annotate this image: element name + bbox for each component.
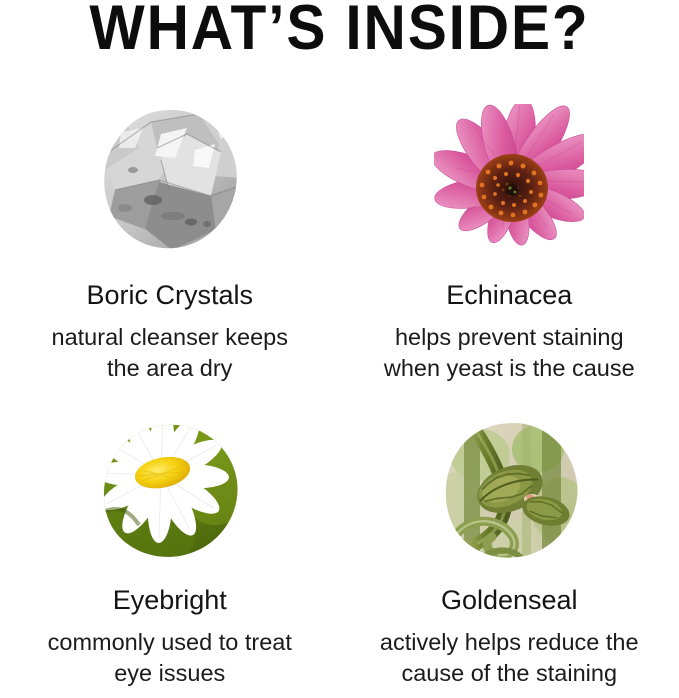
ingredient-name: Eyebright bbox=[113, 585, 227, 615]
ingredient-grid: Boric Crystals natural cleanser keeps th… bbox=[0, 88, 679, 698]
ingredient-name: Boric Crystals bbox=[86, 280, 253, 310]
ingredient-name: Echinacea bbox=[446, 280, 572, 310]
ingredient-card-boric-crystals: Boric Crystals natural cleanser keeps th… bbox=[0, 88, 340, 393]
ingredient-description: helps prevent staining when yeast is the… bbox=[384, 322, 635, 383]
ingredient-description: natural cleanser keeps the area dry bbox=[52, 322, 288, 383]
ingredient-card-eyebright: Eyebright commonly used to treat eye iss… bbox=[0, 393, 340, 698]
ingredient-card-echinacea: Echinacea helps prevent staining when ye… bbox=[340, 88, 679, 393]
eyebright-daisy-image bbox=[95, 415, 245, 565]
echinacea-flower-image bbox=[434, 104, 584, 254]
ingredient-description: actively helps reduce the cause of the s… bbox=[380, 627, 639, 688]
boric-crystals-image bbox=[95, 104, 245, 254]
goldenseal-plant-image bbox=[434, 415, 584, 565]
ingredient-name: Goldenseal bbox=[441, 585, 578, 615]
whats-inside-infographic: WHAT’S INSIDE? bbox=[0, 0, 679, 698]
ingredient-description: commonly used to treat eye issues bbox=[48, 627, 292, 688]
page-title: WHAT’S INSIDE? bbox=[24, 0, 655, 64]
ingredient-card-goldenseal: Goldenseal actively helps reduce the cau… bbox=[340, 393, 679, 698]
